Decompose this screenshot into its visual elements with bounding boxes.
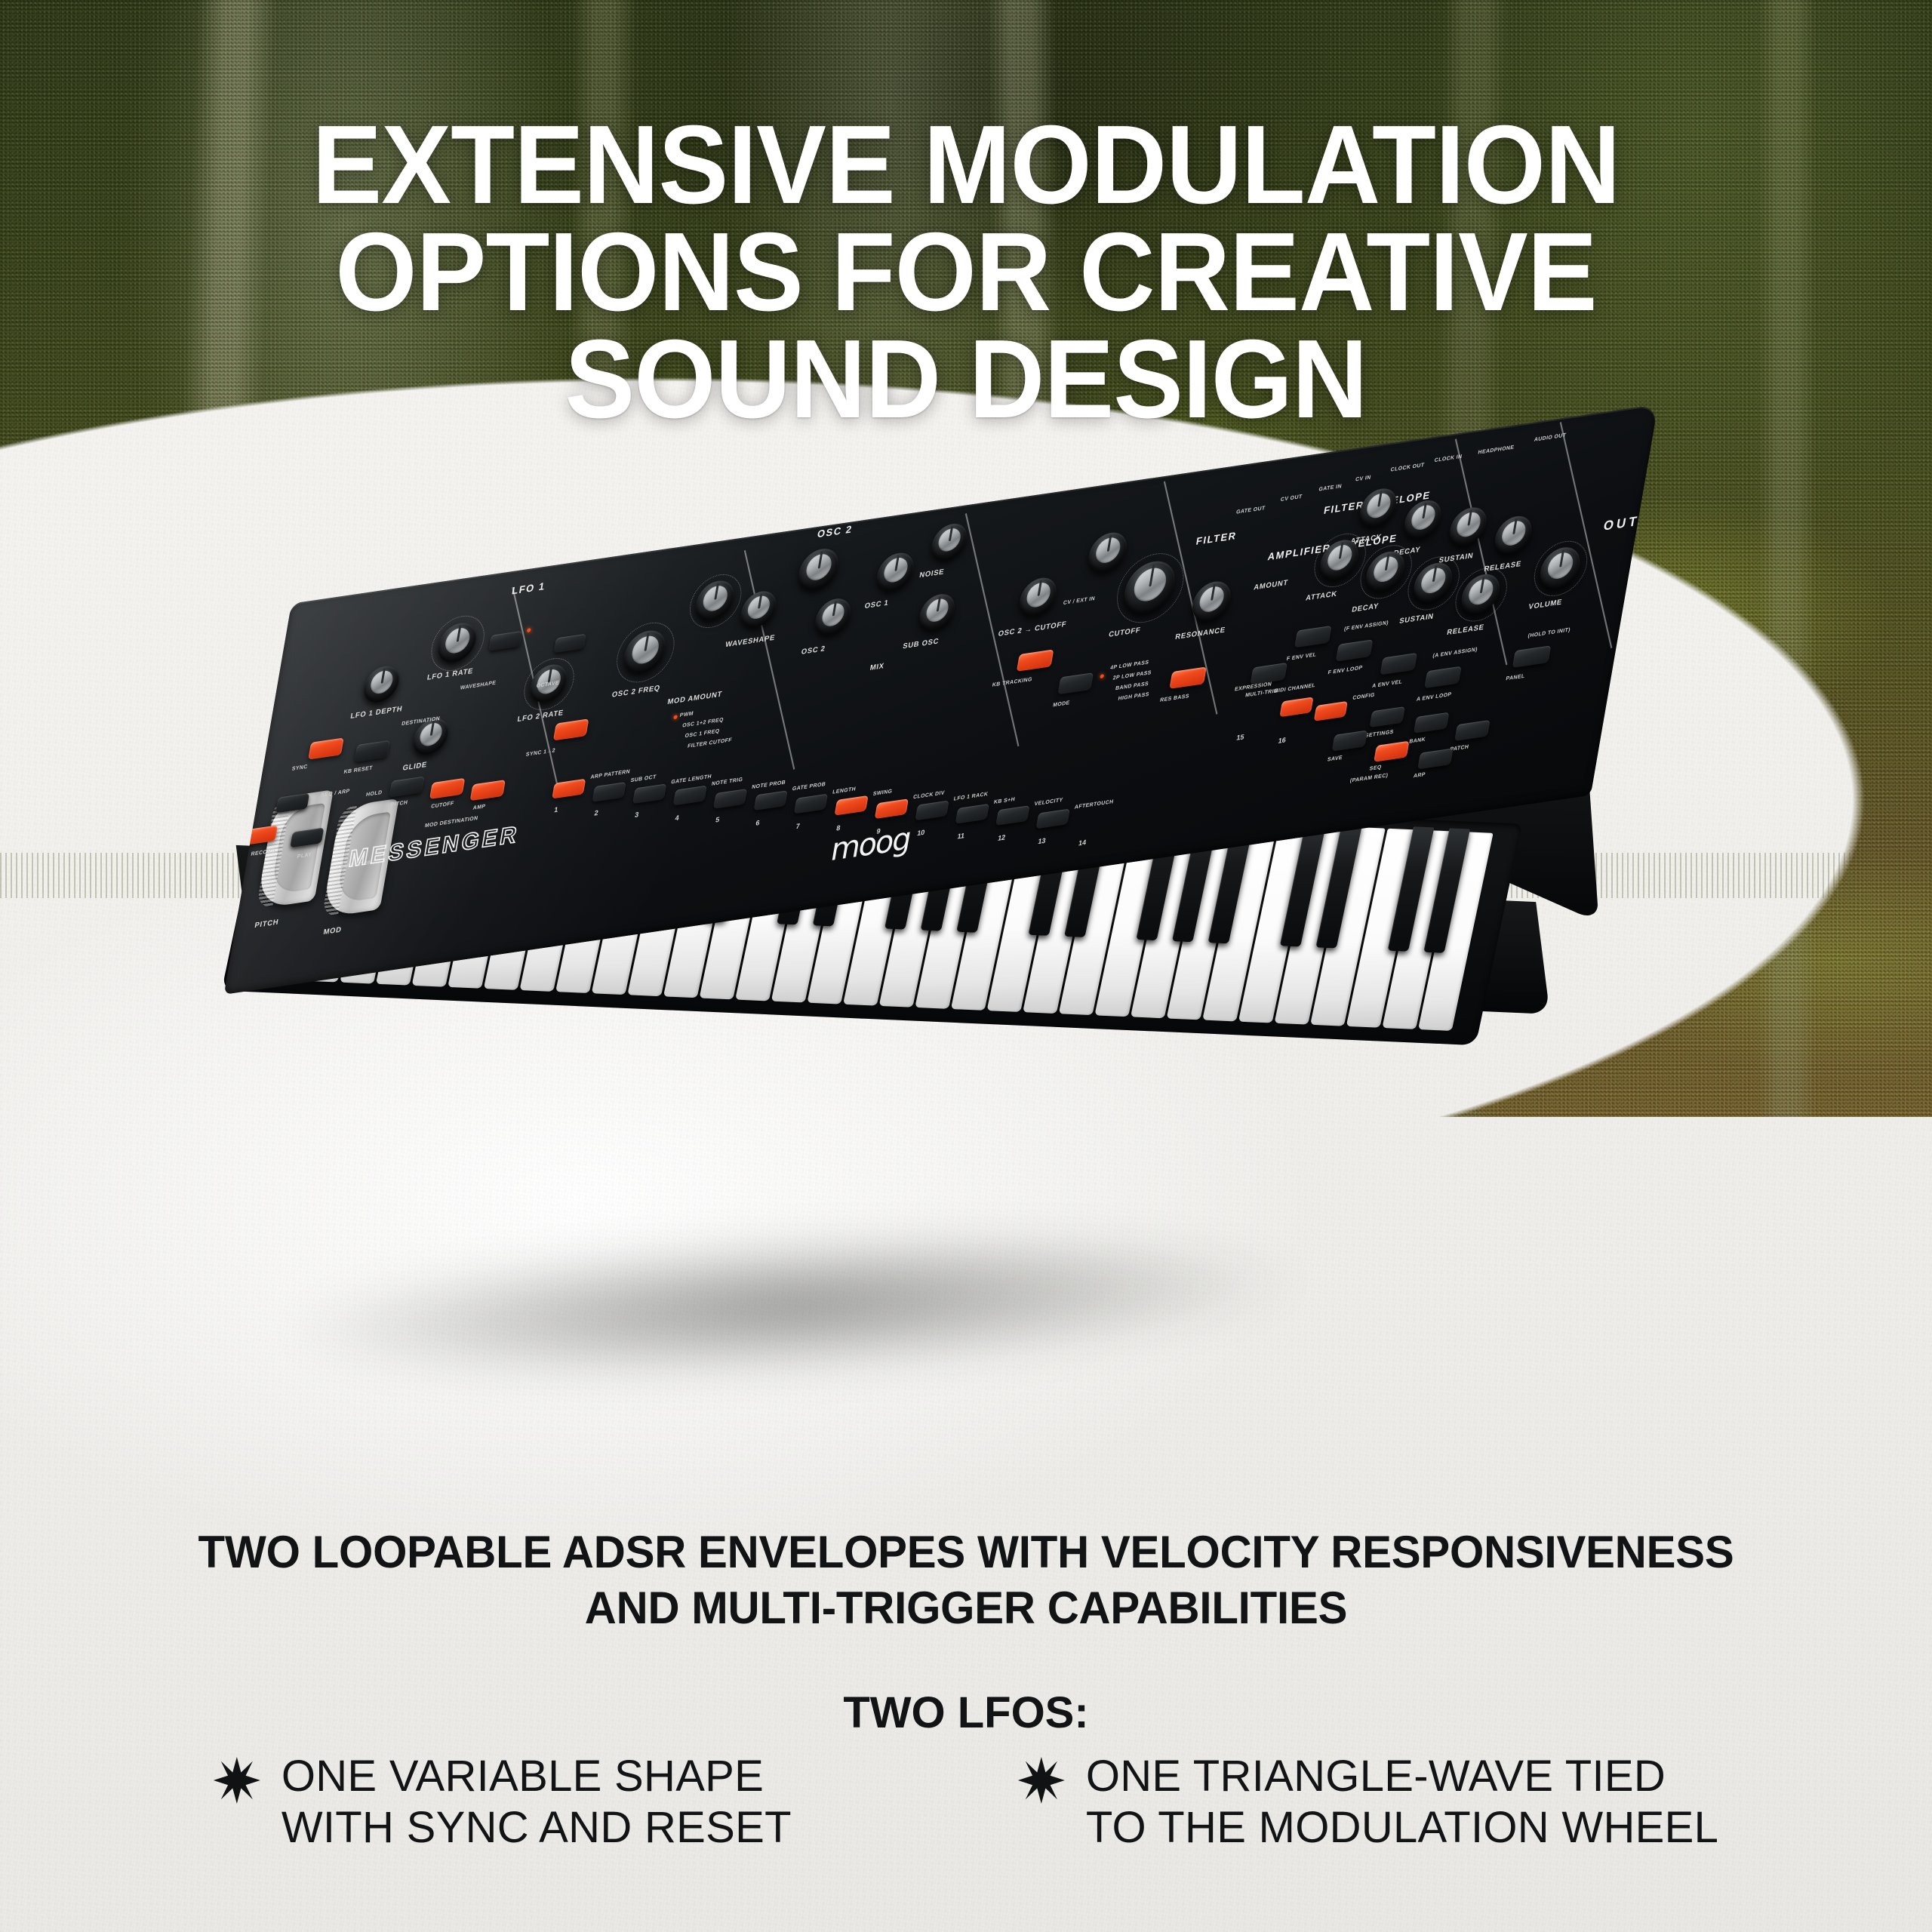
step-number: 16 xyxy=(1278,736,1287,745)
lfos-heading: TWO LFOS: xyxy=(0,1687,1932,1738)
button-f-env-loop[interactable] xyxy=(1336,639,1373,661)
button-kb-sh[interactable] xyxy=(955,804,989,824)
button-velocity-label: VELOCITY xyxy=(1034,798,1063,808)
button-save[interactable] xyxy=(1332,731,1367,752)
jack-label-clock-in: CLOCK IN xyxy=(1434,454,1463,464)
star-burst-icon xyxy=(214,1757,260,1804)
step-number: 11 xyxy=(957,832,965,841)
knob-volume-label: VOLUME xyxy=(1527,598,1562,611)
bullet-line: WITH SYNC AND RESET xyxy=(281,1802,792,1854)
button-res-bass[interactable] xyxy=(1169,666,1206,688)
knob-filter-decay[interactable] xyxy=(1401,498,1444,541)
button-bank[interactable] xyxy=(1414,712,1449,734)
button-settings-label: SETTINGS xyxy=(1364,729,1394,739)
jack-label-headphone: HEADPHONE xyxy=(1478,445,1515,456)
knob-eg-amount[interactable] xyxy=(1086,530,1130,574)
jack-label-cv-in: CV IN xyxy=(1355,475,1371,482)
knob-amp-attack-label: ATTACK xyxy=(1305,589,1337,602)
jack-label-clock-out: CLOCK OUT xyxy=(1390,463,1425,473)
bullet-line: ONE VARIABLE SHAPE xyxy=(281,1751,792,1802)
button-a-env-loop[interactable] xyxy=(1424,666,1461,688)
section-label-output: OUTPUT xyxy=(1602,509,1658,534)
button-a-env-vel-label: A ENV VEL xyxy=(1372,679,1403,689)
filter-mode-4p-low-pass: 4P LOW PASS xyxy=(1110,660,1149,671)
section-divider xyxy=(1560,422,1613,648)
knob-cutoff-label: CUTOFF xyxy=(1108,626,1141,639)
button-velocity[interactable] xyxy=(995,805,1029,826)
bullet-item-variable-shape: ONE VARIABLE SHAPE WITH SYNC AND RESET xyxy=(214,1751,792,1854)
knob-amp-sustain-label: SUSTAIN xyxy=(1398,612,1434,626)
section-label-filter: FILTER xyxy=(1195,530,1238,547)
knob-filter-release[interactable] xyxy=(1492,514,1534,557)
knob-cutoff-ring xyxy=(1112,549,1189,627)
step-number: 15 xyxy=(1236,733,1245,742)
button-arp-label: ARP xyxy=(1413,772,1426,780)
poster-canvas: EXTENSIVE MODULATION OPTIONS FOR CREATIV… xyxy=(0,0,1932,1932)
led-filter-mode xyxy=(1100,674,1104,678)
filter-mode-high-pass: HIGH PASS xyxy=(1118,692,1149,702)
button-config[interactable] xyxy=(1314,701,1348,721)
button-lfo-1-rack-label: LFO 1 RACK xyxy=(953,792,989,802)
knob-amp-release-ring xyxy=(1451,565,1511,625)
button-patch[interactable] xyxy=(1454,720,1490,741)
filter-mode-band-pass: BAND PASS xyxy=(1115,681,1149,692)
bullet-line: ONE TRIANGLE-WAVE TIED xyxy=(1086,1751,1718,1802)
button-aftertouch-label: AFTERTOUCH xyxy=(1074,799,1114,811)
hold-to-init-sublabel: (HOLD TO INIT) xyxy=(1527,627,1571,638)
button-seq[interactable] xyxy=(1374,741,1409,762)
button-lfo-1-rack[interactable] xyxy=(915,801,949,821)
button-f-env-loop-label: F ENV LOOP xyxy=(1327,666,1363,676)
jack-label-gate-in: GATE IN xyxy=(1318,484,1343,493)
bullet-list: ONE VARIABLE SHAPE WITH SYNC AND RESET O… xyxy=(0,1751,1932,1854)
knob-osc-2-to-cutoff-label: OSC 2 → CUTOFF xyxy=(998,620,1067,638)
button-a-env-vel[interactable] xyxy=(1380,653,1417,675)
jack-label-cv-ext-in: CV / EXT IN xyxy=(1063,596,1095,606)
a-env-assign-sublabel: (A ENV ASSIGN) xyxy=(1432,647,1478,659)
knob-resonance[interactable] xyxy=(1189,579,1233,623)
button-a-env-loop-label: A ENV LOOP xyxy=(1416,692,1452,703)
step-number: 14 xyxy=(1078,838,1087,848)
step-number: 13 xyxy=(1038,836,1047,845)
param-rec-sublabel: (PARAM REC) xyxy=(1349,773,1389,784)
jack-label-gate-out: GATE OUT xyxy=(1235,506,1266,515)
button-f-env-vel-label: F ENV VEL xyxy=(1286,652,1317,662)
knob-amp-release-label: RELEASE xyxy=(1446,623,1484,638)
body-copy: TWO LOOPABLE ADSR ENVELOPES WITH VELOCIT… xyxy=(0,1524,1932,1636)
body-copy-line-2: AND MULTI-TRIGGER CAPABILITIES xyxy=(29,1580,1903,1636)
knob-filter-sustain[interactable] xyxy=(1447,505,1489,548)
knob-amp-decay-label: DECAY xyxy=(1351,602,1379,615)
button-kb-tracking[interactable] xyxy=(1017,649,1054,671)
knob-osc-2-to-cutoff[interactable] xyxy=(1017,575,1060,618)
f-env-assign-sublabel: (F ENV ASSIGN) xyxy=(1343,620,1389,632)
jack-label-audio-out: AUDIO OUT xyxy=(1534,432,1567,442)
button-seq-label: SEQ xyxy=(1369,764,1382,772)
jack-label-cv-out: CV OUT xyxy=(1280,494,1303,503)
knob-amount-label: AMOUNT xyxy=(1253,579,1288,592)
button-aftertouch[interactable] xyxy=(1036,809,1070,829)
bullet-text-block: ONE VARIABLE SHAPE WITH SYNC AND RESET xyxy=(281,1751,792,1854)
knob-volume-ring xyxy=(1530,537,1592,600)
knob-filter-attack[interactable] xyxy=(1357,486,1399,529)
bullet-item-triangle-wave: ONE TRIANGLE-WAVE TIED TO THE MODULATION… xyxy=(1018,1751,1718,1854)
button-config-label: CONFIG xyxy=(1352,693,1376,702)
bullet-text-block: ONE TRIANGLE-WAVE TIED TO THE MODULATION… xyxy=(1086,1751,1718,1854)
button-panel-label: PANEL xyxy=(1506,674,1525,682)
button-filter-mode[interactable] xyxy=(1057,672,1093,694)
button-midi-channel-label: MIDI CHANNEL xyxy=(1273,683,1315,694)
bullet-line: TO THE MODULATION WHEEL xyxy=(1086,1802,1718,1854)
button-filter-mode-label: MODE xyxy=(1052,700,1070,709)
step-number: 12 xyxy=(997,833,1006,842)
button-res-bass-label: RES BASS xyxy=(1159,694,1189,703)
button-f-env-vel[interactable] xyxy=(1294,626,1331,648)
body-copy-line-1: TWO LOOPABLE ADSR ENVELOPES WITH VELOCIT… xyxy=(29,1524,1903,1580)
button-bank-label: BANK xyxy=(1409,737,1426,744)
filter-mode-2p-low-pass: 2P LOW PASS xyxy=(1112,670,1152,681)
star-burst-icon xyxy=(1018,1757,1065,1804)
product-photo-zone: PITCH MOD GLIDE PITCH CUTOFF AMP MOD DES… xyxy=(0,513,1932,1449)
button-save-label: SAVE xyxy=(1327,755,1343,763)
button-kb-tracking-label: KB TRACKING xyxy=(992,677,1032,688)
button-midi-channel[interactable] xyxy=(1279,697,1313,717)
moog-messenger-synthesizer: PITCH MOD GLIDE PITCH CUTOFF AMP MOD DES… xyxy=(143,409,1850,1447)
button-arp[interactable] xyxy=(1417,748,1453,769)
button-kb-sh-label: KB S+H xyxy=(993,797,1015,805)
button-settings[interactable] xyxy=(1370,706,1405,728)
button-panel[interactable] xyxy=(1512,645,1551,668)
step-number: 10 xyxy=(916,828,925,837)
